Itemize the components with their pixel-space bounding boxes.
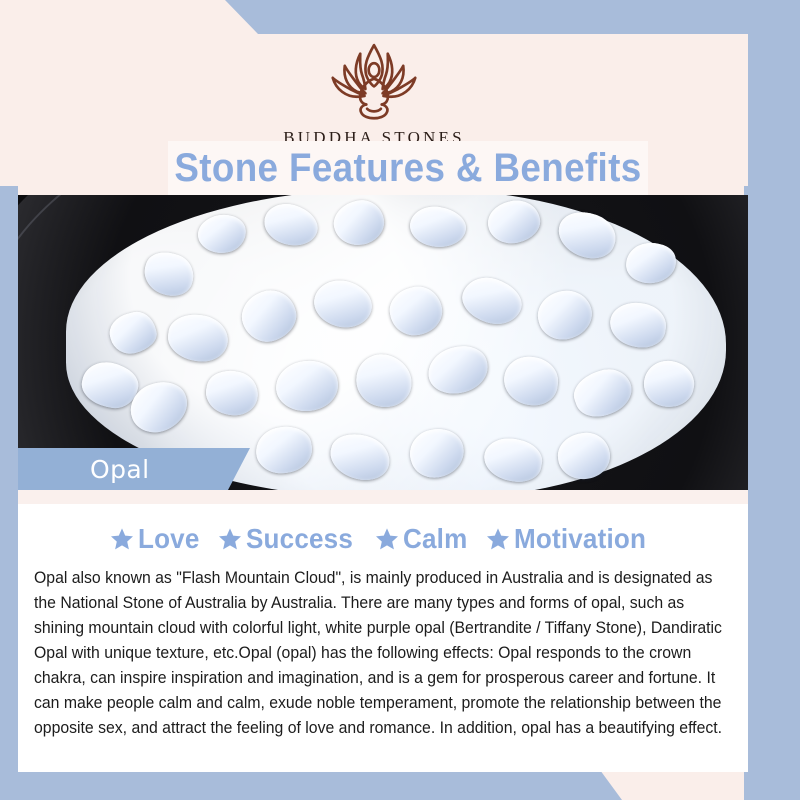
benefit-item-love: Love <box>110 523 204 555</box>
star-icon <box>375 527 399 551</box>
stone-description: Opal also known as "Flash Mountain Cloud… <box>34 566 731 741</box>
benefit-item-calm: Calm <box>375 523 472 555</box>
benefit-label: Calm <box>403 523 467 555</box>
frame-right-bar <box>744 0 800 800</box>
photo-content-divider <box>18 490 748 504</box>
infographic-page: BUDDHA STONES Stone Features & Benefits <box>0 0 800 800</box>
star-icon <box>218 527 242 551</box>
star-icon <box>110 527 134 551</box>
benefit-label: Motivation <box>514 523 646 555</box>
stone-name-label: Opal <box>90 455 149 484</box>
benefit-label: Love <box>138 523 200 555</box>
frame-left-bar <box>0 186 18 800</box>
star-icon <box>486 527 510 551</box>
stone-name-banner: Opal <box>18 448 250 490</box>
benefit-item-success: Success <box>218 523 361 555</box>
frame-bottom-bar <box>0 770 800 800</box>
title-banner: Stone Features & Benefits <box>168 141 648 195</box>
lotus-meditation-icon <box>322 40 426 126</box>
content-panel: Love Success Calm Motivation <box>18 504 748 772</box>
benefit-label: Success <box>246 523 353 555</box>
benefits-row: Love Success Calm Motivation <box>34 518 732 560</box>
page-title: Stone Features & Benefits <box>174 146 641 191</box>
frame-top-bar <box>0 0 800 34</box>
benefit-item-motivation: Motivation <box>486 523 656 555</box>
stone-photo: Opal <box>18 195 748 490</box>
